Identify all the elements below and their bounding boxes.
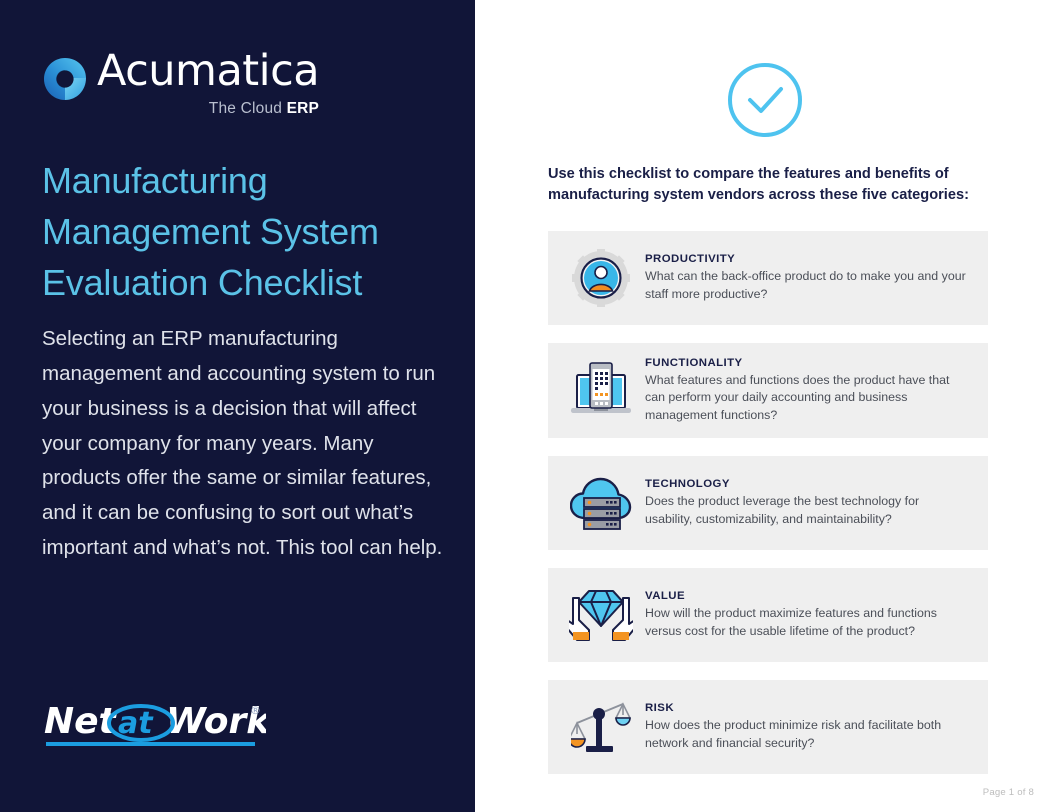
card-title: FUNCTIONALITY: [645, 357, 966, 369]
lead-instruction: Use this checklist to compare the featur…: [548, 164, 998, 206]
category-card-value[interactable]: VALUE How will the product maximize feat…: [548, 568, 988, 662]
brand-name: Acumatica: [97, 50, 319, 93]
left-cover-panel: Acumatica The Cloud ERP Manufacturing Ma…: [0, 0, 475, 812]
productivity-gear-person-icon: [564, 245, 638, 311]
card-description: How will the product maximize features a…: [645, 605, 966, 640]
category-card-risk[interactable]: RISK How does the product minimize risk …: [548, 680, 988, 774]
right-content-panel: Use this checklist to compare the featur…: [475, 0, 1052, 812]
document-page: Acumatica The Cloud ERP Manufacturing Ma…: [0, 0, 1052, 812]
card-title: RISK: [645, 702, 966, 714]
card-title: PRODUCTIVITY: [645, 253, 966, 265]
svg-text:at: at: [118, 706, 154, 741]
brand-tagline-prefix: The Cloud: [209, 100, 287, 117]
functionality-laptop-tablet-icon: [564, 358, 638, 424]
acumatica-brand-lockup: Acumatica The Cloud ERP: [43, 50, 319, 118]
card-description: What can the back-office product do to m…: [645, 268, 966, 303]
card-title: VALUE: [645, 590, 966, 602]
category-card-functionality[interactable]: FUNCTIONALITY What features and function…: [548, 343, 988, 438]
svg-text:®: ®: [250, 704, 261, 717]
card-description: Does the product leverage the best techn…: [645, 493, 966, 528]
risk-scales-icon: [564, 694, 638, 760]
category-card-list: PRODUCTIVITY What can the back-office pr…: [548, 231, 988, 792]
card-title: TECHNOLOGY: [645, 478, 966, 490]
acumatica-droplet-logo-icon: [43, 56, 87, 102]
brand-tagline-erp: ERP: [287, 100, 319, 117]
svg-text:Net: Net: [44, 701, 118, 742]
card-description: How does the product minimize risk and f…: [645, 717, 966, 752]
category-card-technology[interactable]: TECHNOLOGY Does the product leverage the…: [548, 456, 988, 550]
net-at-work-logo-icon: Net Work at ®: [44, 700, 266, 756]
technology-cloud-server-icon: [564, 470, 638, 536]
page-title: Manufacturing Management System Evaluati…: [42, 155, 442, 308]
intro-paragraph: Selecting an ERP manufacturing managemen…: [42, 322, 454, 566]
page-number-footer: Page 1 of 8: [983, 787, 1034, 798]
check-circle-icon: [725, 60, 805, 140]
brand-tagline: The Cloud ERP: [97, 100, 319, 118]
card-description: What features and functions does the pro…: [645, 372, 966, 424]
value-hands-diamond-icon: [564, 582, 638, 648]
category-card-productivity[interactable]: PRODUCTIVITY What can the back-office pr…: [548, 231, 988, 325]
